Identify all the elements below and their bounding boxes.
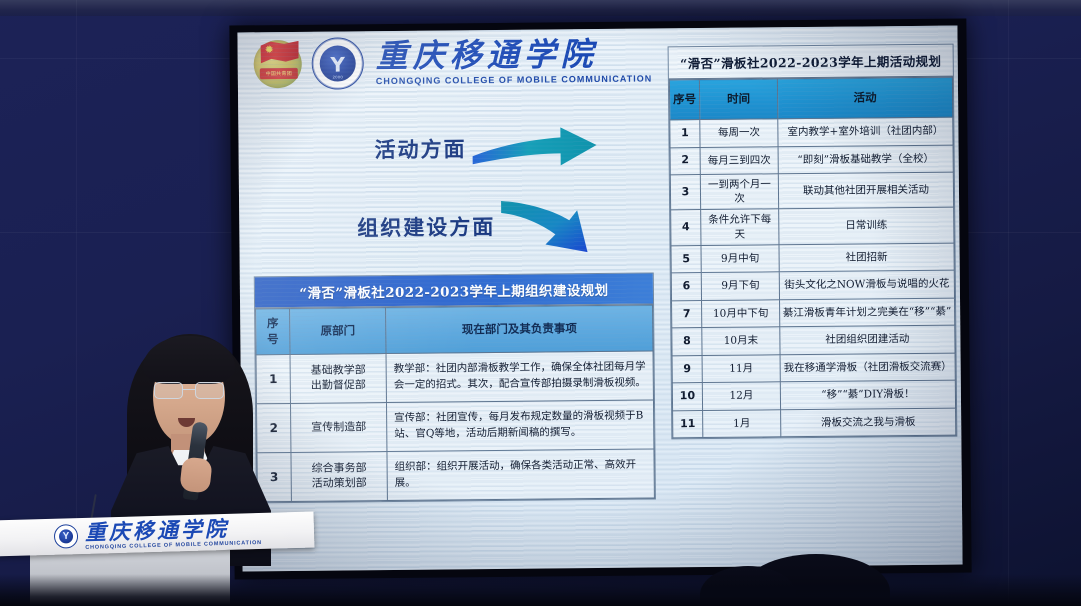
table-row: 69月下旬街头文化之NOW滑板与说唱的火花 — [671, 270, 954, 300]
floor-shadow — [0, 574, 1081, 606]
cell-activity: 我在移通学滑板（社团滑板交流赛） — [780, 353, 955, 382]
table-row: 911月我在移通学滑板（社团滑板交流赛） — [672, 353, 955, 383]
cell-activity: 社团招新 — [779, 243, 954, 272]
cell-no: 4 — [671, 210, 701, 246]
ceiling — [0, 0, 1081, 16]
table-row: 810月末社团组织团建活动 — [672, 325, 955, 355]
table-row: 1基础教学部出勤督促部教学部：社团内部滑板教学工作，确保全体社团每月学会一定的招… — [256, 351, 653, 404]
table-header-row: 序号 原部门 现在部门及其负责事项 — [256, 305, 653, 355]
cell-no: 6 — [671, 273, 701, 301]
university-name-cn: 重庆移通学院 — [376, 38, 653, 74]
cell-new-department-duties: 宣传部：社团宣传，每月发布规定数量的滑板视频于B站、官Q等地，活动后期新闻稿的撰… — [386, 400, 653, 452]
cell-time: 每周一次 — [700, 119, 778, 147]
callout-activity-label: 活动方面 — [374, 133, 466, 164]
cell-no: 7 — [672, 300, 702, 328]
col-header-new-dept: 现在部门及其负责事项 — [386, 305, 653, 354]
table-row: 59月中旬社团招新 — [671, 243, 954, 273]
glasses-icon — [154, 382, 224, 399]
col-header-time: 时间 — [699, 79, 777, 120]
cell-activity: 室内教学+室外培训（社团内部） — [778, 117, 953, 146]
cell-no: 2 — [670, 147, 700, 175]
cell-time: 10月末 — [702, 327, 780, 355]
col-header-old-dept: 原部门 — [290, 308, 386, 355]
cell-activity: 綦江滑板青年计划之完美在“移”“綦” — [780, 298, 955, 327]
callout-organisation: 组织建设方面 — [357, 194, 604, 258]
cell-time: 12月 — [702, 382, 780, 410]
cell-time: 1月 — [703, 409, 781, 437]
cell-no: 11 — [673, 410, 703, 438]
cell-new-department-duties: 教学部：社团内部滑板教学工作，确保全体社团每月学会一定的招式。其次，配合宣传部拍… — [386, 351, 653, 403]
table-row: 4条件允许下每天日常训练 — [671, 207, 954, 245]
wall-seam-vertical — [1008, 0, 1009, 606]
activity-plan-title: “滑否”滑板社2022-2023学年上期活动规划 — [669, 45, 953, 80]
col-header-activity: 活动 — [777, 77, 952, 119]
organisation-plan-table: “滑否”滑板社2022-2023学年上期组织建设规划 序号 原部门 现在部门及其… — [254, 272, 656, 503]
cell-activity: 联动其他社团开展相关活动 — [778, 172, 953, 209]
table-row: 2宣传制造部宣传部：社团宣传，每月发布规定数量的滑板视频于B站、官Q等地，活动后… — [256, 400, 653, 453]
activity-plan-table: “滑否”滑板社2022-2023学年上期活动规划 序号 时间 活动 1每周一次室… — [668, 44, 958, 440]
cell-old-department: 综合事务部活动策划部 — [291, 452, 387, 502]
university-name-en: CHONGQING COLLEGE OF MOBILE COMMUNICATIO… — [376, 73, 652, 86]
cell-activity: “移”“綦”DIY滑板！ — [780, 380, 955, 409]
podium-seal-icon: Y — [54, 524, 79, 549]
cell-activity: 日常训练 — [779, 207, 954, 244]
cell-activity: 社团组织团建活动 — [780, 325, 955, 354]
arrow-down-right-icon — [499, 194, 604, 257]
cell-no: 3 — [670, 175, 700, 211]
cell-no: 10 — [672, 383, 702, 411]
table-row: 2每月三到四次“即刻”滑板基础教学（全校） — [670, 145, 953, 175]
podium-nameplate: Y 重庆移通学院 CHONGQING COLLEGE OF MOBILE COM… — [0, 512, 314, 557]
table-row: 1每周一次室内教学+室外培训（社团内部） — [670, 117, 953, 147]
podium-seal-letter: Y — [63, 531, 70, 542]
callout-activity: 活动方面 — [374, 125, 598, 171]
cell-time: 每月三到四次 — [700, 146, 778, 174]
cell-activity: “即刻”滑板基础教学（全校） — [778, 145, 953, 174]
cell-old-department: 宣传制造部 — [290, 403, 386, 453]
cell-time: 一到两个月一次 — [700, 174, 778, 210]
cell-new-department-duties: 组织部：组织开展活动，确保各类活动正常、高效开展。 — [387, 449, 654, 501]
university-seal-icon: Y 2000 — [311, 37, 363, 89]
youth-league-emblem-icon: 中国共青团 — [251, 38, 303, 90]
seal-year: 2000 — [333, 74, 344, 79]
cell-no: 1 — [670, 120, 700, 148]
cell-no: 9 — [672, 355, 702, 383]
hand — [179, 457, 212, 494]
podium-university-cn: 重庆移通学院 — [85, 516, 262, 542]
cell-time: 9月中旬 — [701, 244, 779, 272]
col-header-no: 序号 — [669, 80, 699, 120]
callout-organisation-label: 组织建设方面 — [357, 211, 495, 242]
cell-time: 9月下旬 — [701, 272, 779, 300]
slide-content: 中国共青团 Y 2000 重庆移通学院 CHONGQING COLLEGE OF… — [237, 26, 962, 572]
cell-no: 5 — [671, 245, 701, 273]
table-row: 710月中下旬綦江滑板青年计划之完美在“移”“綦” — [672, 298, 955, 328]
university-name-block: 重庆移通学院 CHONGQING COLLEGE OF MOBILE COMMU… — [376, 38, 653, 86]
projection-screen: 中国共青团 Y 2000 重庆移通学院 CHONGQING COLLEGE OF… — [229, 18, 971, 579]
table-row: 3综合事务部活动策划部组织部：组织开展活动，确保各类活动正常、高效开展。 — [257, 449, 654, 502]
table-header-row: 序号 时间 活动 — [669, 77, 952, 120]
cell-old-department: 基础教学部出勤督促部 — [290, 354, 386, 404]
cell-time: 11月 — [702, 354, 780, 382]
scene-root: 中国共青团 Y 2000 重庆移通学院 CHONGQING COLLEGE OF… — [0, 0, 1081, 606]
table-row: 1012月“移”“綦”DIY滑板！ — [672, 380, 955, 410]
slide-branding: 中国共青团 Y 2000 重庆移通学院 CHONGQING COLLEGE OF… — [251, 34, 652, 90]
cell-activity: 滑板交流之我与滑板 — [781, 408, 956, 437]
arrow-right-icon — [470, 125, 598, 170]
table-row: 3一到两个月一次联动其他社团开展相关活动 — [670, 172, 953, 210]
cell-activity: 街头文化之NOW滑板与说唱的火花 — [779, 270, 954, 299]
cell-no: 8 — [672, 328, 702, 356]
organisation-plan-title: “滑否”滑板社2022-2023学年上期组织建设规划 — [255, 273, 653, 308]
cell-time: 条件允许下每天 — [701, 209, 779, 245]
table-row: 111月滑板交流之我与滑板 — [673, 408, 956, 438]
league-emblem-text: 中国共青团 — [266, 70, 293, 77]
cell-time: 10月中下旬 — [702, 299, 780, 327]
seal-letter: Y — [330, 52, 345, 76]
